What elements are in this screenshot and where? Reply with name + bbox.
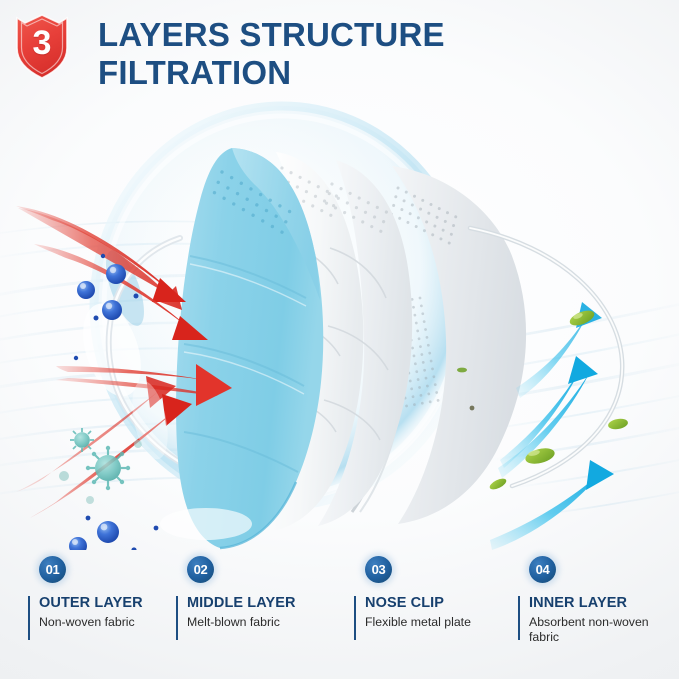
legend: 01 OUTER LAYER Non-woven fabric 02 MIDDL… [0, 556, 679, 679]
legend-subtitle: Flexible metal plate [365, 615, 471, 630]
legend-item-nose-clip: 03 NOSE CLIP Flexible metal plate [354, 556, 471, 630]
legend-subtitle: Non-woven fabric [39, 615, 143, 630]
legend-body: NOSE CLIP Flexible metal plate [354, 595, 471, 630]
legend-body: OUTER LAYER Non-woven fabric [28, 595, 143, 630]
legend-item-inner-layer: 04 INNER LAYER Absorbent non-woven fabri… [518, 556, 661, 645]
legend-badge-01: 01 [39, 556, 66, 583]
legend-title: OUTER LAYER [39, 595, 143, 612]
infographic-page: 3 LAYERS STRUCTURE FILTRATION [0, 0, 679, 679]
legend-badge-number: 01 [46, 563, 60, 576]
legend-title: INNER LAYER [529, 595, 661, 612]
legend-subtitle: Melt-blown fabric [187, 615, 296, 630]
page-title: LAYERS STRUCTURE FILTRATION [98, 16, 658, 92]
mask-illustration [0, 88, 679, 550]
legend-item-middle-layer: 02 MIDDLE LAYER Melt-blown fabric [176, 556, 296, 630]
legend-badge-number: 03 [372, 563, 386, 576]
page-title-line-2: FILTRATION [98, 54, 658, 92]
legend-badge-04: 04 [529, 556, 556, 583]
legend-body: INNER LAYER Absorbent non-woven fabric [518, 595, 661, 645]
shield-number: 3 [13, 12, 71, 80]
page-title-line-1: LAYERS STRUCTURE [98, 16, 658, 54]
legend-badge-02: 02 [187, 556, 214, 583]
legend-item-outer-layer: 01 OUTER LAYER Non-woven fabric [28, 556, 143, 630]
legend-badge-number: 04 [536, 563, 550, 576]
legend-subtitle: Absorbent non-woven fabric [529, 615, 661, 645]
legend-body: MIDDLE LAYER Melt-blown fabric [176, 595, 296, 630]
legend-badge-03: 03 [365, 556, 392, 583]
mask-body [176, 148, 526, 548]
legend-badge-number: 02 [194, 563, 208, 576]
header: 3 LAYERS STRUCTURE FILTRATION [0, 0, 679, 100]
legend-title: MIDDLE LAYER [187, 595, 296, 612]
shield-icon: 3 [13, 12, 71, 80]
legend-title: NOSE CLIP [365, 595, 471, 612]
